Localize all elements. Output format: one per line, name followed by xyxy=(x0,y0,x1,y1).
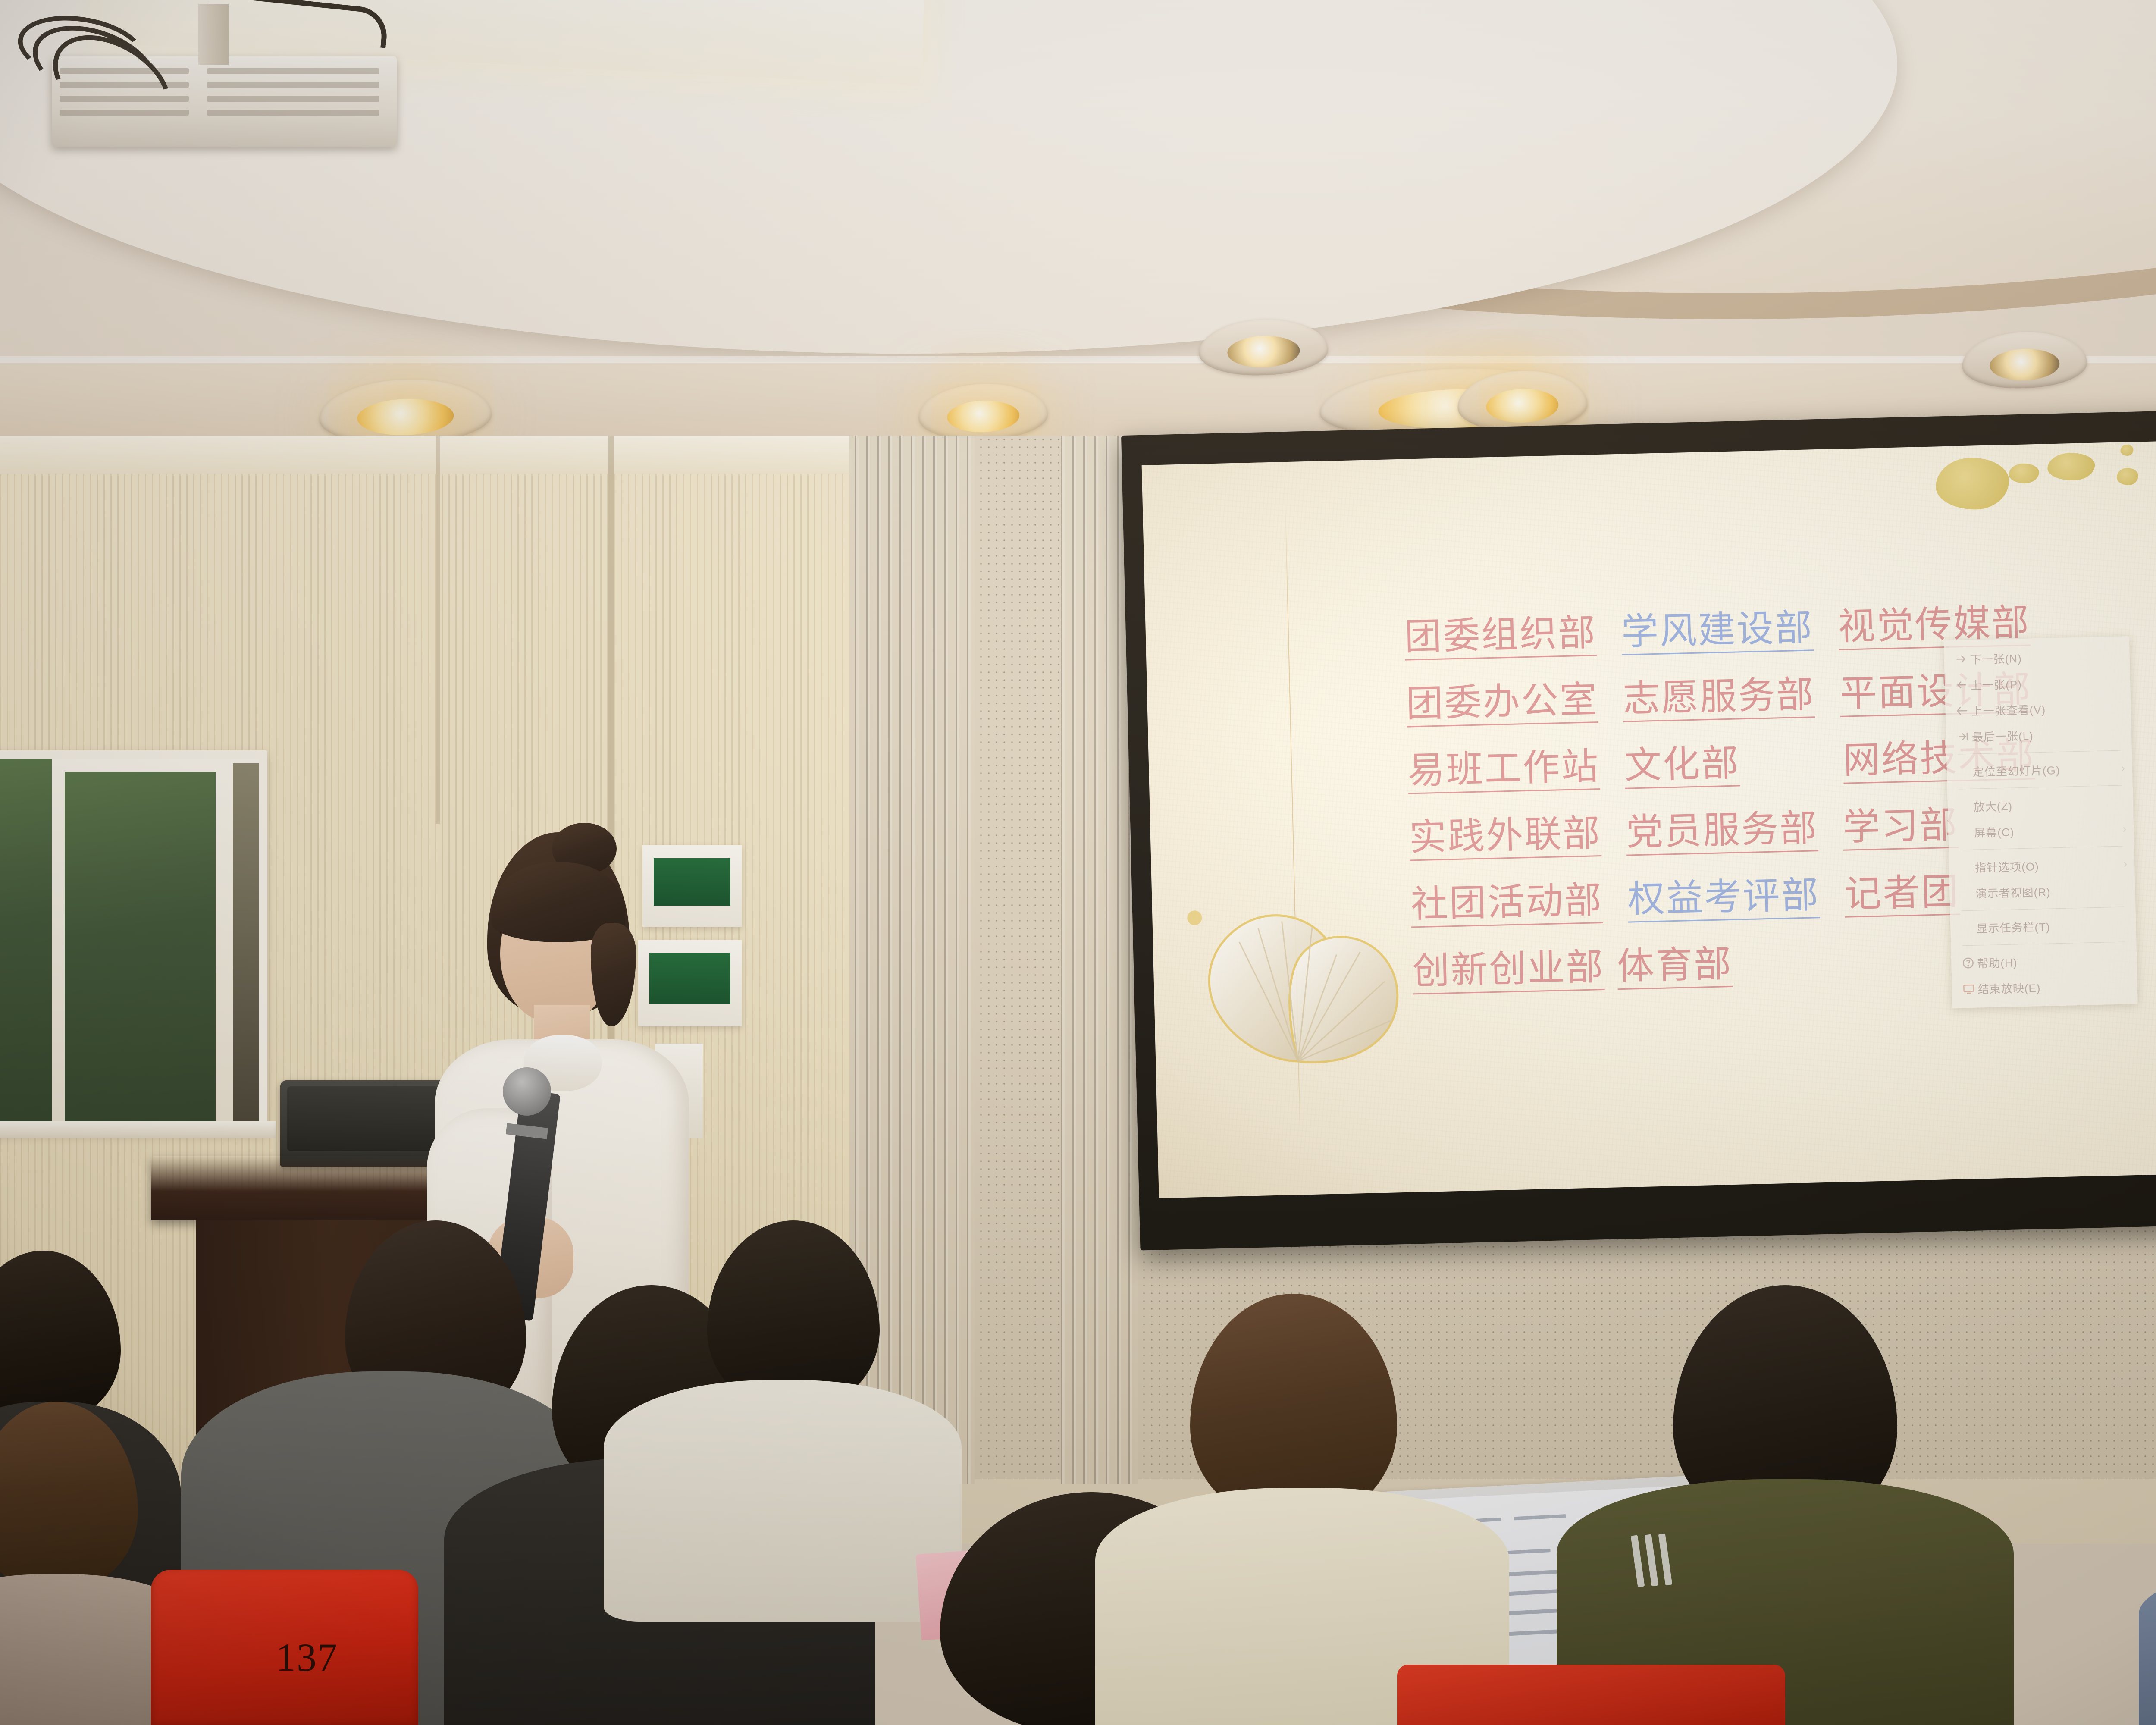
window-sill xyxy=(0,1121,276,1138)
menu-item-goto-slide[interactable]: 定位至幻灯片(G) › xyxy=(1946,755,2132,785)
menu-item-help[interactable]: 帮助(H) xyxy=(1951,946,2137,976)
menu-separator xyxy=(1960,846,2123,850)
dept-label: 党员服务部 xyxy=(1626,809,1818,856)
menu-separator xyxy=(1959,785,2122,790)
end-show-icon xyxy=(1959,982,1978,996)
dept-label: 易班工作站 xyxy=(1407,748,1600,794)
chevron-right-icon: › xyxy=(2122,822,2127,835)
menu-item-previous-slide[interactable]: 上一张(P) xyxy=(1944,668,2130,698)
dept-label: 团委组织部 xyxy=(1404,614,1597,660)
chevron-right-icon: › xyxy=(2123,857,2128,870)
hoodie-stripe-1 xyxy=(1631,1535,1645,1587)
menu-item-show-taskbar[interactable]: 显示任务栏(T) xyxy=(1950,911,2136,941)
window-pane-center xyxy=(65,772,216,1121)
dept-label: 学风建设部 xyxy=(1621,609,1814,655)
menu-item-last-slide[interactable]: 最后一张(L) xyxy=(1946,720,2131,750)
dept-label: 记者团 xyxy=(1844,873,1960,917)
menu-item-end-show[interactable]: 结束放映(E) xyxy=(1952,972,2137,1002)
left-wall-upper-seam xyxy=(436,436,440,824)
arrow-back-icon xyxy=(1953,704,1971,718)
seat-number: 137 xyxy=(276,1634,338,1680)
ceiling-projector xyxy=(13,4,418,155)
menu-separator xyxy=(1962,941,2125,946)
chevron-right-icon: › xyxy=(2121,761,2125,775)
window-pane-right xyxy=(233,763,259,1121)
menu-item-pointer-options[interactable]: 指针选项(O) › xyxy=(1949,850,2134,881)
arrow-right-icon xyxy=(1952,652,1970,666)
auditorium-seat: 137 xyxy=(151,1570,418,1725)
window-pane-left xyxy=(0,759,52,1121)
dept-label: 团委办公室 xyxy=(1406,681,1598,727)
arrow-last-icon xyxy=(1954,730,1972,743)
screen-surface: 团委组织部 学风建设部 视觉传媒部 团委办公室 志愿服务部 平面设计部 易班工作… xyxy=(1142,438,2156,1198)
presenter-hair-tail xyxy=(591,923,636,1026)
menu-item-last-viewed[interactable]: 上一张查看(V) xyxy=(1945,694,2131,724)
window xyxy=(0,750,267,1134)
microphone-head xyxy=(503,1067,551,1116)
dept-label: 实践外联部 xyxy=(1409,815,1601,861)
dept-label: 体育部 xyxy=(1617,945,1733,990)
audience-torso xyxy=(604,1380,962,1621)
menu-item-presenter-view[interactable]: 演示者视图(R) xyxy=(1949,876,2135,906)
ceiling-soffit-edge xyxy=(0,356,2156,363)
powerpoint-context-menu[interactable]: 下一张(N) 上一张(P) 上一张查看(V) 最后一张(L) 定位至幻 xyxy=(1944,636,2138,1008)
menu-item-next-slide[interactable]: 下一张(N) xyxy=(1944,642,2130,672)
arrow-left-icon xyxy=(1952,678,1971,692)
menu-item-screen[interactable]: 屏幕(C) › xyxy=(1948,815,2134,846)
projector-cable-4 xyxy=(205,0,389,48)
lecture-hall-photo: 团委组织部 学风建设部 视觉传媒部 团委办公室 志愿服务部 平面设计部 易班工作… xyxy=(0,0,2156,1725)
hoodie-stripe-2 xyxy=(1645,1534,1659,1586)
audience-torso xyxy=(2139,1561,2156,1725)
menu-item-zoom[interactable]: 放大(Z) xyxy=(1947,790,2133,820)
hoodie-stripe-3 xyxy=(1658,1533,1673,1585)
left-wall-cornice xyxy=(0,436,849,474)
dept-label: 创新创业部 xyxy=(1412,948,1604,994)
dept-label: 志愿服务部 xyxy=(1623,676,1815,722)
menu-separator xyxy=(1958,750,2121,755)
menu-separator xyxy=(1961,906,2124,911)
ginkgo-leaf-decoration xyxy=(1164,873,1411,1112)
dept-label: 权益考评部 xyxy=(1627,876,1820,922)
auditorium-seat-2 xyxy=(1397,1665,1785,1725)
dept-label: 社团活动部 xyxy=(1410,881,1603,928)
help-icon xyxy=(1959,957,1977,970)
dept-label: 学习部 xyxy=(1843,806,1959,851)
projection-screen: 团委组织部 学风建设部 视觉传媒部 团委办公室 志愿服务部 平面设计部 易班工作… xyxy=(1121,407,2156,1250)
dept-label: 文化部 xyxy=(1624,744,1740,789)
